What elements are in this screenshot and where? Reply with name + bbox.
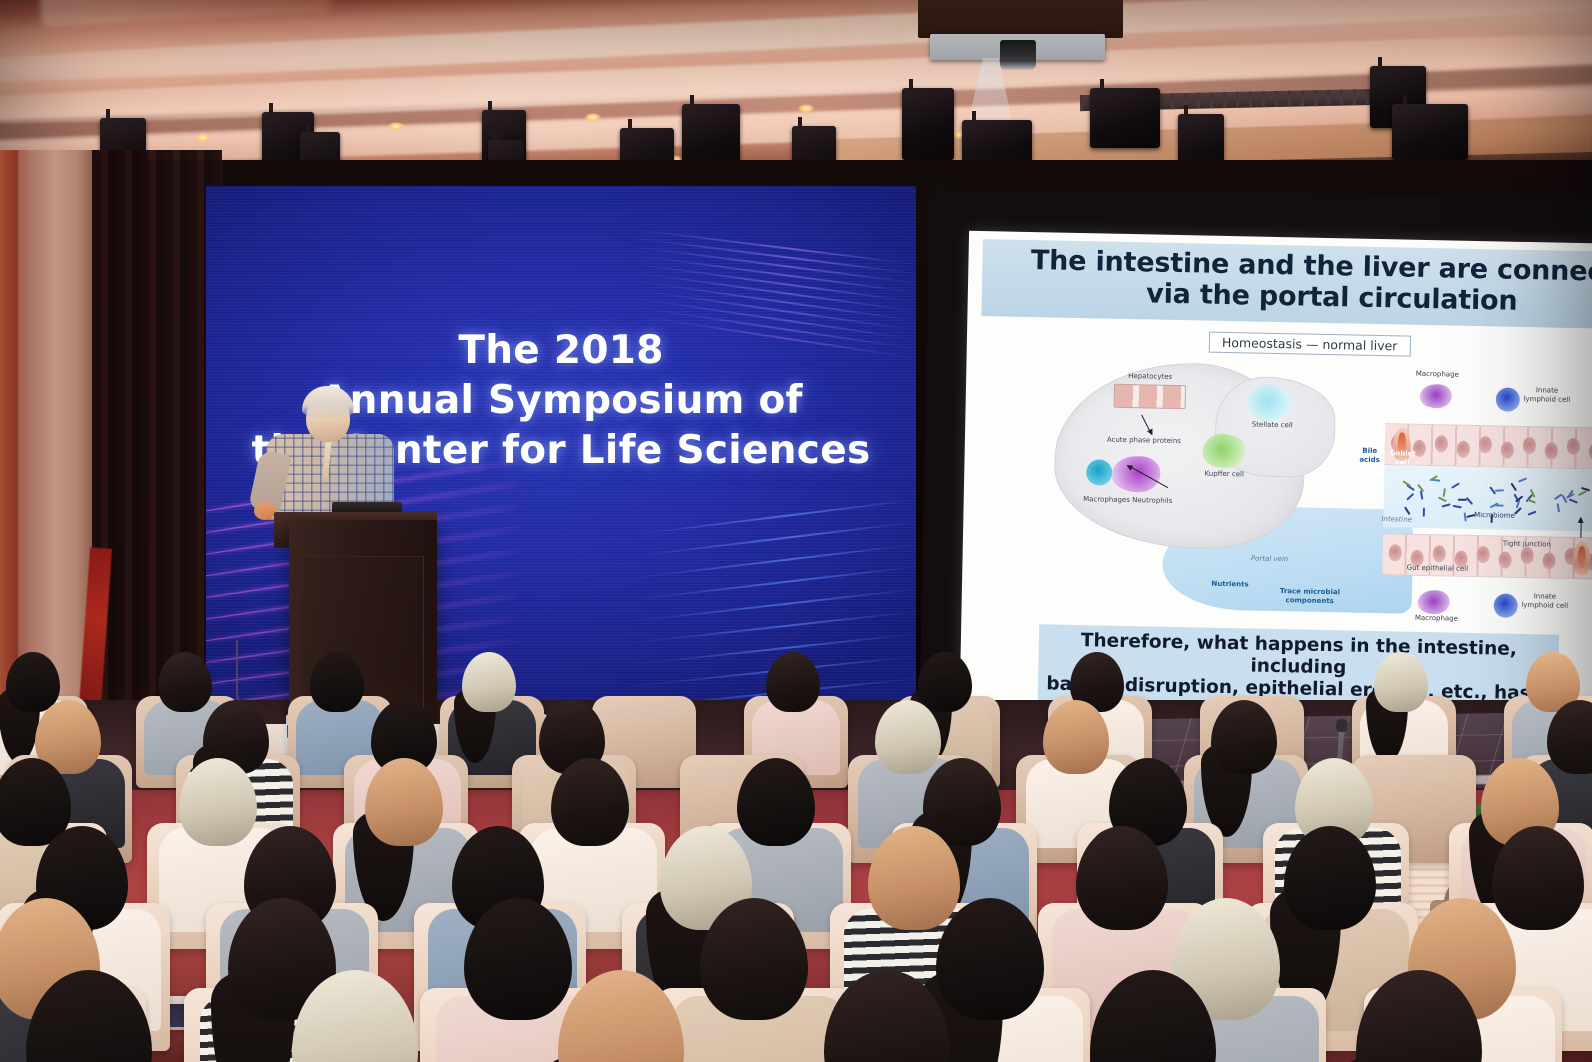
wave-line — [627, 262, 916, 304]
wave-line — [627, 498, 916, 537]
epithelial-nucleus — [1542, 552, 1555, 569]
stage-light — [1392, 104, 1468, 160]
microbe — [1403, 506, 1410, 515]
intestine-panel: Macrophage Innate lymphoid cell Goblet c… — [1361, 361, 1592, 634]
label-portal-vein: Portal vein — [1234, 554, 1304, 564]
audience-member-head — [918, 652, 972, 712]
microbe — [1453, 505, 1462, 509]
liver-gut-diagram: Hepatocytes Stellate cell Acute phase pr… — [961, 353, 1592, 637]
microbe — [1527, 499, 1536, 505]
hepatocytes-strip — [1114, 384, 1186, 409]
speaker-hand — [254, 502, 276, 520]
conference-photo: The 2018 Annual Symposium of the Center … — [0, 0, 1592, 1062]
microbe — [1495, 489, 1504, 492]
epithelial-nucleus — [1521, 547, 1534, 564]
audience-member-head — [462, 652, 516, 712]
epithelial-nucleus — [1389, 544, 1402, 561]
microbe — [1495, 504, 1504, 507]
audience-member-head — [310, 652, 364, 712]
stage-light — [902, 88, 954, 160]
label-innate-lymphoid-cell-bottom: Innate lymphoid cell — [1520, 592, 1570, 610]
audience-member-head — [6, 652, 60, 712]
projector-housing — [918, 0, 1123, 38]
audience-seating — [0, 630, 1592, 1062]
wave-line — [627, 253, 916, 294]
epithelial-nucleus — [1477, 546, 1490, 563]
epithelial-nucleus — [1433, 545, 1446, 562]
macrophage-gut-icon-bottom — [1418, 590, 1450, 615]
label-stellate-cell: Stellate cell — [1227, 420, 1317, 431]
label-intestine: Intestine — [1381, 515, 1435, 525]
microbe — [1510, 482, 1517, 491]
microbe — [1451, 482, 1460, 489]
label-acute-phase-proteins: Acute phase proteins — [1099, 435, 1189, 446]
symposium-title-line1: The 2018 — [206, 326, 916, 376]
audience-member-head — [158, 652, 212, 712]
microbe — [1578, 491, 1587, 497]
epithelial-nucleus — [1457, 441, 1470, 458]
mucin-arrow-icon — [1580, 518, 1582, 538]
innate-lymphoid-cell-icon-bottom — [1493, 593, 1517, 617]
audience-member-head — [766, 652, 820, 712]
downlight — [388, 122, 404, 131]
macrophage-gut-icon-top — [1420, 384, 1452, 409]
microbe — [1442, 503, 1451, 508]
epithelial-nucleus — [1501, 442, 1514, 459]
homeostasis-label-box: Homeostasis — normal liver — [1209, 332, 1411, 357]
wave-line — [627, 236, 916, 275]
microbe — [1465, 497, 1473, 505]
epithelial-nucleus — [1435, 435, 1448, 452]
slide-title: The intestine and the liver are connecte… — [981, 239, 1592, 330]
stellate-cell-icon — [1247, 384, 1292, 421]
wave-line — [627, 542, 916, 579]
downlight — [798, 104, 814, 113]
epithelial-nucleus — [1567, 438, 1580, 455]
macrophage-liver-icon — [1112, 456, 1161, 493]
microbe — [1458, 499, 1467, 502]
wave-line — [627, 279, 916, 323]
label-macrophage-bottom: Macrophage — [1405, 614, 1467, 624]
epithelial-row-bottom — [1382, 533, 1592, 580]
epithelial-nucleus — [1498, 551, 1511, 568]
label-microbiome: Microbiome — [1459, 511, 1529, 521]
epithelial-nucleus — [1589, 443, 1592, 460]
label-macrophage-top: Macrophage — [1406, 370, 1468, 380]
audience-member-head — [1374, 652, 1428, 712]
epithelial-nucleus — [1479, 436, 1492, 453]
microbe — [1407, 493, 1415, 501]
innate-lymphoid-cell-icon-top — [1496, 387, 1520, 411]
stage-light — [1090, 88, 1160, 148]
microbe — [1442, 488, 1446, 497]
wave-line — [627, 587, 916, 623]
microbe — [1438, 497, 1447, 503]
microbe — [1489, 487, 1496, 496]
microbe — [1417, 484, 1424, 493]
kupffer-cell-icon — [1202, 434, 1245, 469]
wave-line — [627, 520, 916, 558]
wave-line — [627, 271, 916, 314]
label-nutrients: Nutrients — [1200, 580, 1260, 590]
label-trace-microbial-components: Trace microbial components — [1260, 587, 1360, 607]
projector-lens-icon — [1000, 40, 1036, 70]
microbe — [1569, 498, 1578, 504]
epithelial-nucleus — [1523, 437, 1536, 454]
wave-line — [627, 228, 916, 267]
left-wall-edge — [0, 150, 18, 710]
label-tight-junction: Tight junction — [1499, 539, 1555, 549]
wave-line — [627, 565, 916, 601]
ceiling-sign — [39, 0, 331, 28]
microbe — [1518, 477, 1527, 483]
label-innate-lymphoid-cell-top: Innate lymphoid cell — [1522, 386, 1572, 404]
label-kupffer-cell: Kupffer cell — [1182, 469, 1266, 479]
downlight — [195, 133, 211, 142]
speaker-hair — [302, 386, 354, 418]
microbe — [1556, 503, 1560, 512]
downlight — [585, 113, 601, 122]
epithelial-nucleus — [1545, 442, 1558, 459]
label-gut-epithelial-cell: Gut epithelial cell — [1392, 563, 1482, 574]
wave-line — [627, 245, 916, 285]
